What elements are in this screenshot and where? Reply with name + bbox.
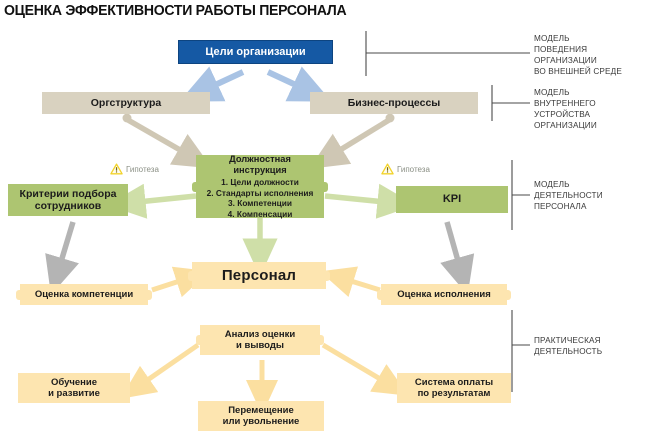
warning-triangle-icon bbox=[381, 163, 394, 175]
competency-assessment-label: Оценка компетенции bbox=[20, 289, 148, 300]
job-description-heading-line1: Должностная bbox=[229, 154, 291, 165]
job-description-heading-line2: инструкция bbox=[233, 165, 286, 176]
job-description-item-4: 4. Компенсации bbox=[228, 209, 293, 220]
node-competency-assessment[interactable]: Оценка компетенции bbox=[20, 284, 148, 305]
node-goals-label: Цели организации bbox=[179, 46, 332, 59]
node-performance-assessment[interactable]: Оценка исполнения bbox=[381, 284, 507, 305]
pay-system-line1: Система оплаты bbox=[415, 377, 493, 388]
caption-practical-activity: ПРАКТИЧЕСКАЯ ДЕЯТЕЛЬНОСТЬ bbox=[534, 336, 602, 358]
node-org-structure[interactable]: Оргструктура bbox=[42, 92, 210, 114]
node-kpi-label: KPI bbox=[396, 193, 508, 206]
hypothesis-right-label: Гипотеза bbox=[397, 165, 430, 174]
warning-triangle-icon bbox=[110, 163, 123, 175]
analysis-line1: Анализ оценки bbox=[225, 329, 295, 340]
analysis-line2: и выводы bbox=[236, 340, 284, 351]
job-description-item-2: 2. Стандарты исполнения bbox=[207, 188, 314, 199]
diagram-canvas: ОЦЕНКА ЭФФЕКТИВНОСТИ РАБОТЫ ПЕРСОНАЛА bbox=[0, 0, 650, 436]
node-personnel-label: Персонал bbox=[192, 267, 326, 285]
pay-system-line2: по результатам bbox=[418, 388, 491, 399]
hypothesis-right: Гипотеза bbox=[381, 163, 430, 175]
training-line1: Обучение bbox=[51, 377, 97, 388]
node-training[interactable]: Обучение и развитие bbox=[18, 373, 130, 403]
job-description-item-1: 1. Цели должности bbox=[221, 177, 299, 188]
node-business-processes-label: Бизнес-процессы bbox=[310, 97, 478, 109]
selection-criteria-line2: сотрудников bbox=[35, 200, 101, 212]
node-selection-criteria[interactable]: Критерии подбора сотрудников bbox=[8, 184, 128, 216]
node-transfer-or-dismissal[interactable]: Перемещение или увольнение bbox=[198, 401, 324, 431]
node-org-structure-label: Оргструктура bbox=[42, 97, 210, 109]
node-personnel[interactable]: Персонал bbox=[192, 262, 326, 289]
node-kpi[interactable]: KPI bbox=[396, 186, 508, 213]
hypothesis-left: Гипотеза bbox=[110, 163, 159, 175]
bracket-personnel-activity bbox=[512, 160, 530, 230]
hypothesis-left-label: Гипотеза bbox=[126, 165, 159, 174]
node-business-processes[interactable]: Бизнес-процессы bbox=[310, 92, 478, 114]
node-goals[interactable]: Цели организации bbox=[178, 40, 333, 64]
caption-internal-structure: МОДЕЛЬ ВНУТРЕННЕГО УСТРОЙСТВА ОРГАНИЗАЦИ… bbox=[534, 88, 597, 132]
job-description-item-3: 3. Компетенции bbox=[228, 198, 292, 209]
node-analysis[interactable]: Анализ оценки и выводы bbox=[200, 325, 320, 355]
transfer-line2: или увольнение bbox=[223, 416, 300, 427]
bracket-external-behaviour bbox=[366, 31, 530, 76]
bracket-practical-activity bbox=[512, 310, 530, 392]
bracket-internal-structure bbox=[492, 85, 530, 121]
node-job-description[interactable]: Должностная инструкция 1. Цели должности… bbox=[196, 155, 324, 218]
selection-criteria-line1: Критерии подбора bbox=[20, 188, 117, 200]
performance-assessment-label: Оценка исполнения bbox=[381, 289, 507, 300]
caption-personnel-activity: МОДЕЛЬ ДЕЯТЕЛЬНОСТИ ПЕРСОНАЛА bbox=[534, 180, 603, 213]
transfer-line1: Перемещение bbox=[228, 405, 294, 416]
training-line2: и развитие bbox=[48, 388, 100, 399]
caption-external-behaviour: МОДЕЛЬ ПОВЕДЕНИЯ ОРГАНИЗАЦИИ ВО ВНЕШНЕЙ … bbox=[534, 34, 622, 78]
arrow-goals-to-structure bbox=[200, 72, 311, 92]
node-pay-system[interactable]: Система оплаты по результатам bbox=[397, 373, 511, 403]
arrow-structure-to-jobdesc bbox=[123, 114, 395, 159]
